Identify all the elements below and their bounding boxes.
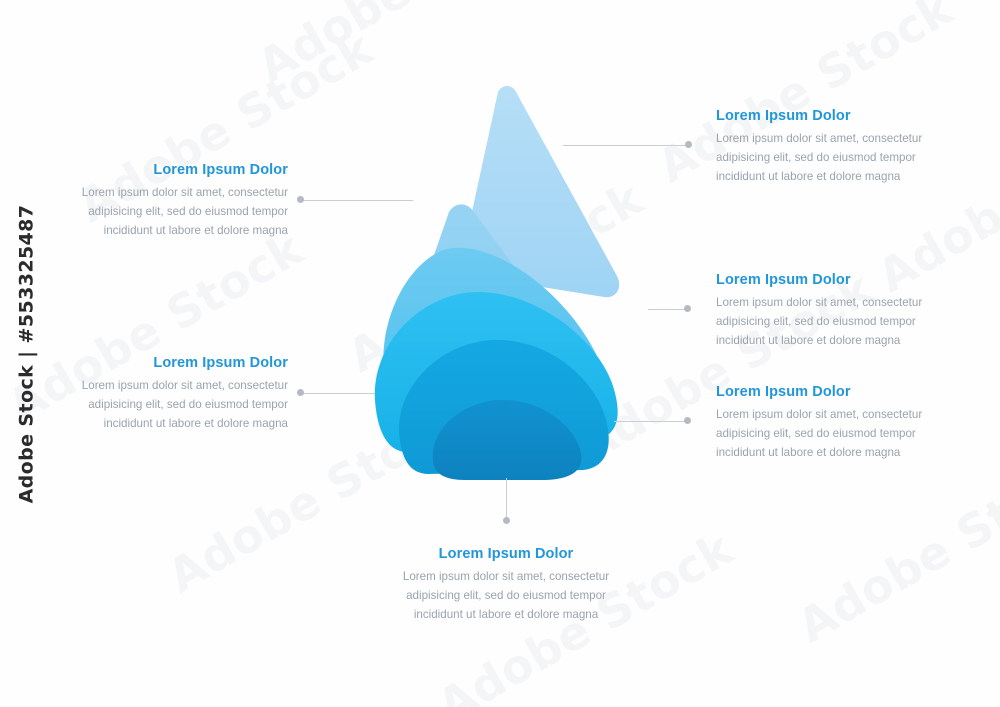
connector-dot-top-right bbox=[685, 141, 692, 148]
info-block-mid-left[interactable]: Lorem Ipsum Dolor Lorem ipsum dolor sit … bbox=[58, 162, 288, 241]
info-block-mid-right[interactable]: Lorem Ipsum Dolor Lorem ipsum dolor sit … bbox=[716, 272, 946, 351]
connector-dot-bottom bbox=[503, 517, 510, 524]
info-block-body: Lorem ipsum dolor sit amet, consectetur … bbox=[391, 568, 621, 624]
connector-line-low-left bbox=[303, 393, 375, 394]
connector-line-bottom bbox=[506, 478, 507, 521]
info-block-bottom[interactable]: Lorem Ipsum Dolor Lorem ipsum dolor sit … bbox=[391, 546, 621, 625]
info-block-body: Lorem ipsum dolor sit amet, consectetur … bbox=[716, 130, 946, 186]
watermark-text: Adobe Stock bbox=[789, 441, 1000, 653]
info-block-title: Lorem Ipsum Dolor bbox=[716, 272, 946, 289]
connector-dot-mid-left bbox=[297, 196, 304, 203]
info-block-title: Lorem Ipsum Dolor bbox=[716, 108, 946, 125]
water-drop-graphic bbox=[355, 80, 655, 480]
connector-line-top-right bbox=[563, 145, 689, 146]
connector-dot-mid-right bbox=[684, 305, 691, 312]
connector-dot-low-left bbox=[297, 389, 304, 396]
connector-line-mid-right bbox=[648, 309, 688, 310]
info-block-low-left[interactable]: Lorem Ipsum Dolor Lorem ipsum dolor sit … bbox=[58, 355, 288, 434]
info-block-body: Lorem ipsum dolor sit amet, consectetur … bbox=[58, 377, 288, 433]
infographic-canvas: Adobe Stock Adobe Stock Adobe Stock Adob… bbox=[0, 0, 1000, 707]
info-block-body: Lorem ipsum dolor sit amet, consectetur … bbox=[716, 406, 946, 462]
asset-id-label: Adobe Stock | #553325487 bbox=[15, 204, 37, 503]
info-block-body: Lorem ipsum dolor sit amet, consectetur … bbox=[58, 184, 288, 240]
info-block-title: Lorem Ipsum Dolor bbox=[58, 355, 288, 372]
info-block-title: Lorem Ipsum Dolor bbox=[391, 546, 621, 563]
info-block-body: Lorem ipsum dolor sit amet, consectetur … bbox=[716, 294, 946, 350]
info-block-title: Lorem Ipsum Dolor bbox=[716, 384, 946, 401]
info-block-top-right[interactable]: Lorem Ipsum Dolor Lorem ipsum dolor sit … bbox=[716, 108, 946, 187]
info-block-low-right[interactable]: Lorem Ipsum Dolor Lorem ipsum dolor sit … bbox=[716, 384, 946, 463]
asset-id-strip: Adobe Stock | #553325487 bbox=[6, 0, 46, 707]
connector-line-mid-left bbox=[303, 200, 413, 201]
info-block-title: Lorem Ipsum Dolor bbox=[58, 162, 288, 179]
connector-line-low-right bbox=[614, 421, 688, 422]
connector-dot-low-right bbox=[684, 417, 691, 424]
